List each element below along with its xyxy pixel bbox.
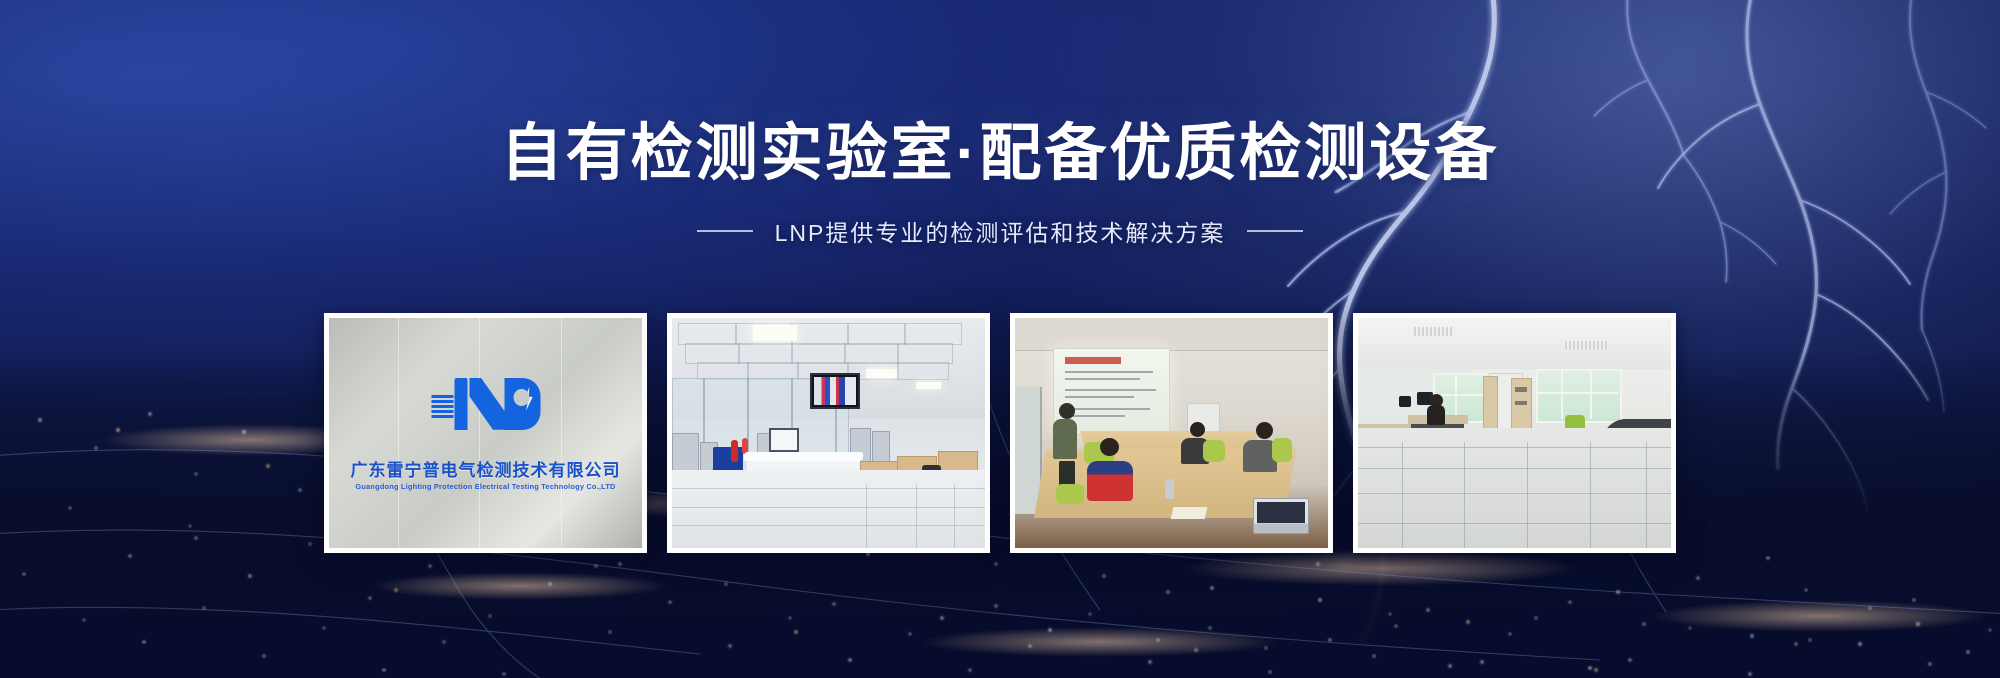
laptop-icon [1253,498,1309,534]
rule-left-icon [697,230,753,232]
photo-strip: 广东雷宁普电气检测技术有限公司 Guangdong Lighting Prote… [324,313,1676,553]
hero-subtitle-text: LNP提供专业的检测评估和技术解决方案 [775,214,1226,248]
photo-testing-lab[interactable] [667,313,990,553]
photo-office-area[interactable] [1353,313,1676,553]
photo-company-sign-image: 广东雷宁普电气检测技术有限公司 Guangdong Lighting Prote… [329,318,642,548]
page-title: 自有检测实验室·配备优质检测设备 [0,118,2000,190]
photo-testing-lab-image [672,318,985,548]
wall-monitor-icon [810,373,860,409]
rule-right-icon [1247,230,1303,232]
company-name-cn: 广东雷宁普电气检测技术有限公司 [351,456,621,481]
logo-bolt-icon [523,387,534,411]
photo-meeting-room-image [1015,318,1328,548]
photo-office-area-image [1358,318,1671,548]
company-name-en: Guangdong Lighting Protection Electrical… [355,482,615,491]
hero-copy: 自有检测实验室·配备优质检测设备 LNP提供专业的检测评估和技术解决方案 [0,118,2000,248]
photo-company-sign[interactable]: 广东雷宁普电气检测技术有限公司 Guangdong Lighting Prote… [324,313,647,553]
photo-meeting-room[interactable] [1010,313,1333,553]
hero-subtitle: LNP提供专业的检测评估和技术解决方案 [0,214,2000,248]
lnp-logo-icon [431,378,540,430]
hero-banner: 自有检测实验室·配备优质检测设备 LNP提供专业的检测评估和技术解决方案 [0,0,2000,678]
